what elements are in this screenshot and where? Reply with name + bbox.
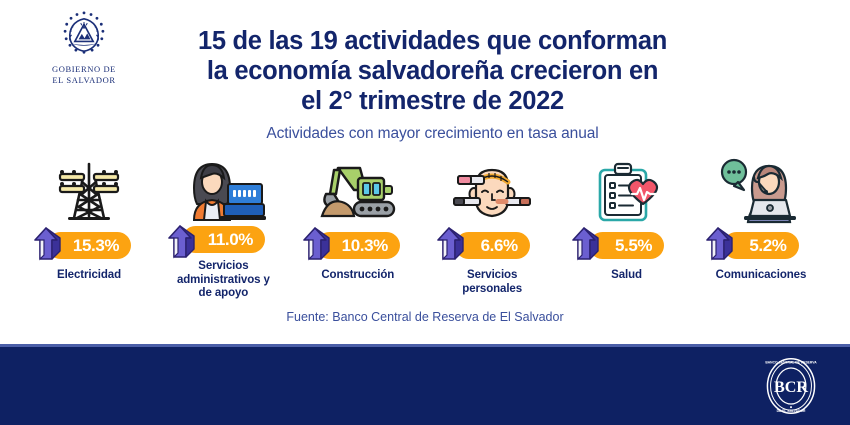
activity-card-construccion: 10.3% Construcción bbox=[293, 158, 423, 298]
activity-label: Comunicaciones bbox=[716, 269, 807, 283]
electricity-pylon-icon bbox=[52, 158, 126, 224]
makeup-face-icon bbox=[452, 158, 532, 224]
activity-label-line: Construcción bbox=[321, 269, 394, 283]
el-salvador-coat-of-arms-icon bbox=[57, 8, 111, 62]
call-center-agent-icon bbox=[718, 158, 804, 224]
up-arrow-icon bbox=[705, 226, 733, 262]
activity-label-line: Comunicaciones bbox=[716, 269, 807, 283]
activity-card-electricidad: 15.3% Electricidad bbox=[24, 158, 154, 298]
page-title: 15 de las 19 actividades que conforman l… bbox=[160, 26, 705, 116]
title-block: 15 de las 19 actividades que conforman l… bbox=[160, 26, 705, 143]
activity-card-comunicaciones: 5.2% Comunicaciones bbox=[696, 158, 826, 298]
up-arrow-icon bbox=[571, 226, 599, 262]
activity-card-servicios-administrativos: 11.0% Servicios administrativos y de apo… bbox=[158, 158, 288, 298]
activity-label-line: administrativos y bbox=[177, 274, 270, 288]
office-worker-computer-icon bbox=[180, 158, 266, 222]
activity-label-line: Servicios bbox=[177, 260, 270, 274]
activity-card-salud: 5.5% Salud bbox=[562, 158, 692, 298]
bcr-monogram: BCR bbox=[774, 379, 808, 396]
svg-text:DE EL SALVADOR: DE EL SALVADOR bbox=[777, 409, 806, 413]
activity-card-servicios-personales: 6.6% Servicios personales bbox=[427, 158, 557, 298]
title-line-1: 15 de las 19 actividades que conforman bbox=[160, 26, 705, 56]
activity-label-line: Electricidad bbox=[57, 269, 121, 283]
growth-value: 15.3% bbox=[73, 237, 119, 254]
up-arrow-icon bbox=[302, 226, 330, 262]
activity-cards: 15.3% Electricidad bbox=[0, 158, 850, 298]
page-subtitle: Actividades con mayor crecimiento en tas… bbox=[160, 125, 705, 143]
up-arrow-icon bbox=[167, 224, 195, 260]
growth-value: 5.5% bbox=[615, 237, 652, 254]
value-badge-row: 10.3% bbox=[293, 228, 423, 262]
value-badge-row: 5.2% bbox=[696, 228, 826, 262]
source-note: Fuente: Banco Central de Reserva de El S… bbox=[0, 310, 850, 324]
activity-label-line: personales bbox=[462, 283, 522, 297]
value-badge-row: 11.0% bbox=[158, 226, 288, 253]
activity-label: Electricidad bbox=[57, 269, 121, 283]
activity-label: Servicios personales bbox=[462, 269, 522, 296]
svg-text:BANCO CENTRAL DE RESERVA: BANCO CENTRAL DE RESERVA bbox=[765, 361, 817, 365]
excavator-icon bbox=[316, 158, 400, 224]
government-logo-text: GOBIERNO DE EL SALVADOR bbox=[52, 64, 116, 85]
up-arrow-icon bbox=[33, 226, 61, 262]
activity-label: Salud bbox=[611, 269, 642, 283]
growth-value: 11.0% bbox=[208, 231, 253, 248]
gov-logo-line-1: GOBIERNO DE bbox=[52, 64, 116, 75]
infographic-canvas: GOBIERNO DE EL SALVADOR 15 de las 19 act… bbox=[0, 0, 850, 425]
growth-badge: 5.5% bbox=[589, 232, 664, 259]
value-badge-row: 15.3% bbox=[24, 228, 154, 262]
activity-label: Construcción bbox=[321, 269, 394, 283]
activity-label-line: Salud bbox=[611, 269, 642, 283]
growth-value: 6.6% bbox=[481, 237, 518, 254]
bcr-seal-icon: BCR BANCO CENTRAL DE RESERVA DE EL SALVA… bbox=[760, 355, 822, 417]
activity-label: Servicios administrativos y de apoyo bbox=[177, 260, 270, 301]
title-line-3: el 2° trimestre de 2022 bbox=[160, 86, 705, 116]
activity-label-line: de apoyo bbox=[177, 287, 270, 301]
activity-label-line: Servicios bbox=[462, 269, 522, 283]
gov-logo-line-2: EL SALVADOR bbox=[52, 75, 116, 86]
up-arrow-icon bbox=[436, 226, 464, 262]
growth-value: 5.2% bbox=[749, 237, 786, 254]
growth-badge: 5.2% bbox=[723, 232, 798, 259]
title-line-2: la economía salvadoreña crecieron en bbox=[160, 56, 705, 86]
medical-clipboard-heart-icon bbox=[590, 158, 664, 224]
footer-bar: BCR BANCO CENTRAL DE RESERVA DE EL SALVA… bbox=[0, 347, 850, 425]
value-badge-row: 6.6% bbox=[427, 228, 557, 262]
growth-badge: 6.6% bbox=[455, 232, 530, 259]
government-logo: GOBIERNO DE EL SALVADOR bbox=[14, 8, 154, 94]
value-badge-row: 5.5% bbox=[562, 228, 692, 262]
growth-value: 10.3% bbox=[342, 237, 388, 254]
